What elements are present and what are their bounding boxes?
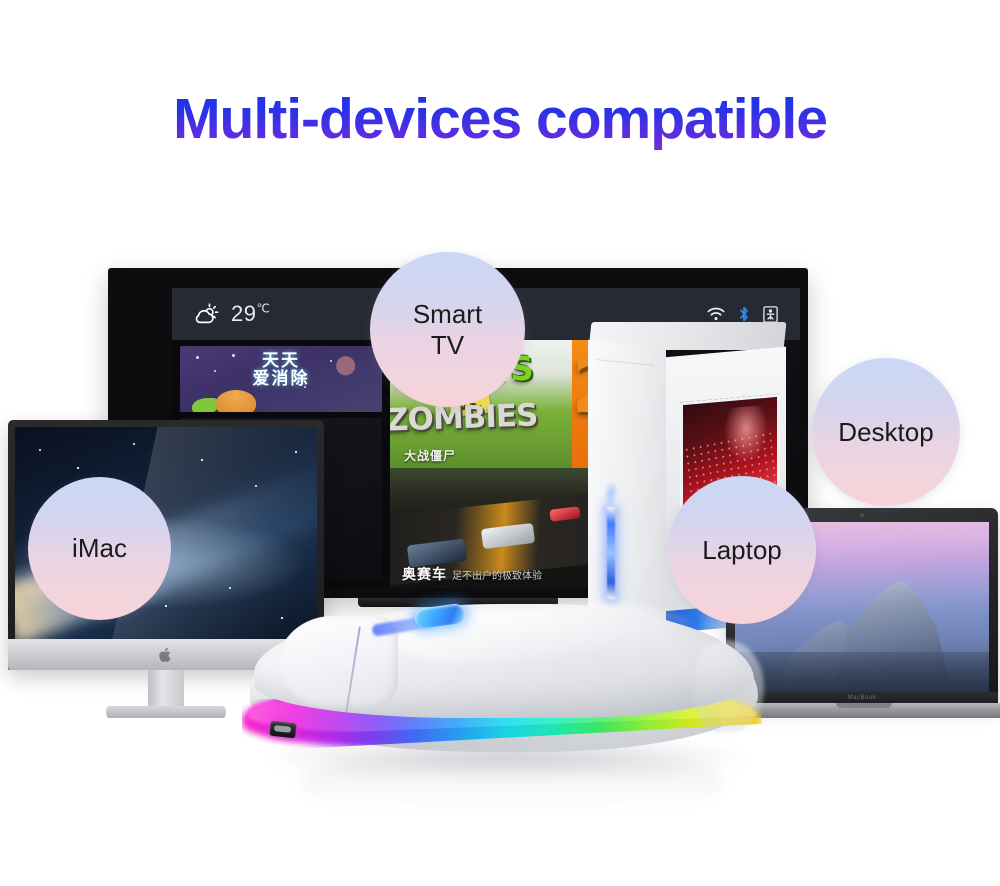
mouse-charging-port (269, 721, 296, 739)
tv-system-icons (707, 306, 778, 323)
apple-logo-icon (159, 647, 173, 663)
bubble-imac-text: iMac (72, 533, 127, 564)
bubble-label-desktop[interactable]: Desktop (812, 358, 960, 506)
product-banner: Multi-devices compatible (0, 0, 1000, 886)
pvz-subtitle-cn: 大战僵尸 (404, 447, 456, 464)
device-cluster: 29℃ 5:34 (0, 0, 1000, 886)
racing-title: 奥赛车足不出户的极致体验 (402, 564, 542, 584)
tv-weather-widget: 29℃ (194, 301, 270, 327)
tile-match3-art: 天天 爱消除 (180, 346, 382, 412)
wifi-icon (707, 307, 725, 321)
bubble-smart-tv-line1: Smart (413, 299, 482, 330)
macbook-wordmark: MacBook (847, 695, 876, 701)
mouse-reflection (302, 754, 722, 812)
mouse-rear-edge (694, 640, 764, 732)
imac-stand-base (106, 706, 226, 718)
bubble-label-imac[interactable]: iMac (28, 477, 171, 620)
bluetooth-icon (738, 306, 750, 323)
bubble-laptop-text: Laptop (702, 535, 782, 566)
tile-match3-title: 天天 爱消除 (180, 352, 382, 388)
tile-leaf-decor (192, 398, 218, 412)
bubble-label-smart-tv[interactable]: Smart TV (370, 252, 525, 407)
bubble-desktop-text: Desktop (838, 417, 933, 448)
wireless-mouse-product (232, 586, 772, 796)
bubble-smart-tv-line2: TV (413, 330, 482, 361)
tower-front-panel (588, 340, 666, 620)
tile-bear-decor (216, 390, 256, 412)
macbook-lid-notch (836, 703, 892, 708)
wallpaper-valley (735, 652, 989, 692)
sun-behind-cloud-icon (194, 303, 220, 325)
settings-box-icon (763, 306, 778, 323)
tv-temperature: 29℃ (231, 301, 270, 327)
macbook-camera (860, 513, 864, 517)
bubble-label-laptop[interactable]: Laptop (668, 476, 816, 624)
